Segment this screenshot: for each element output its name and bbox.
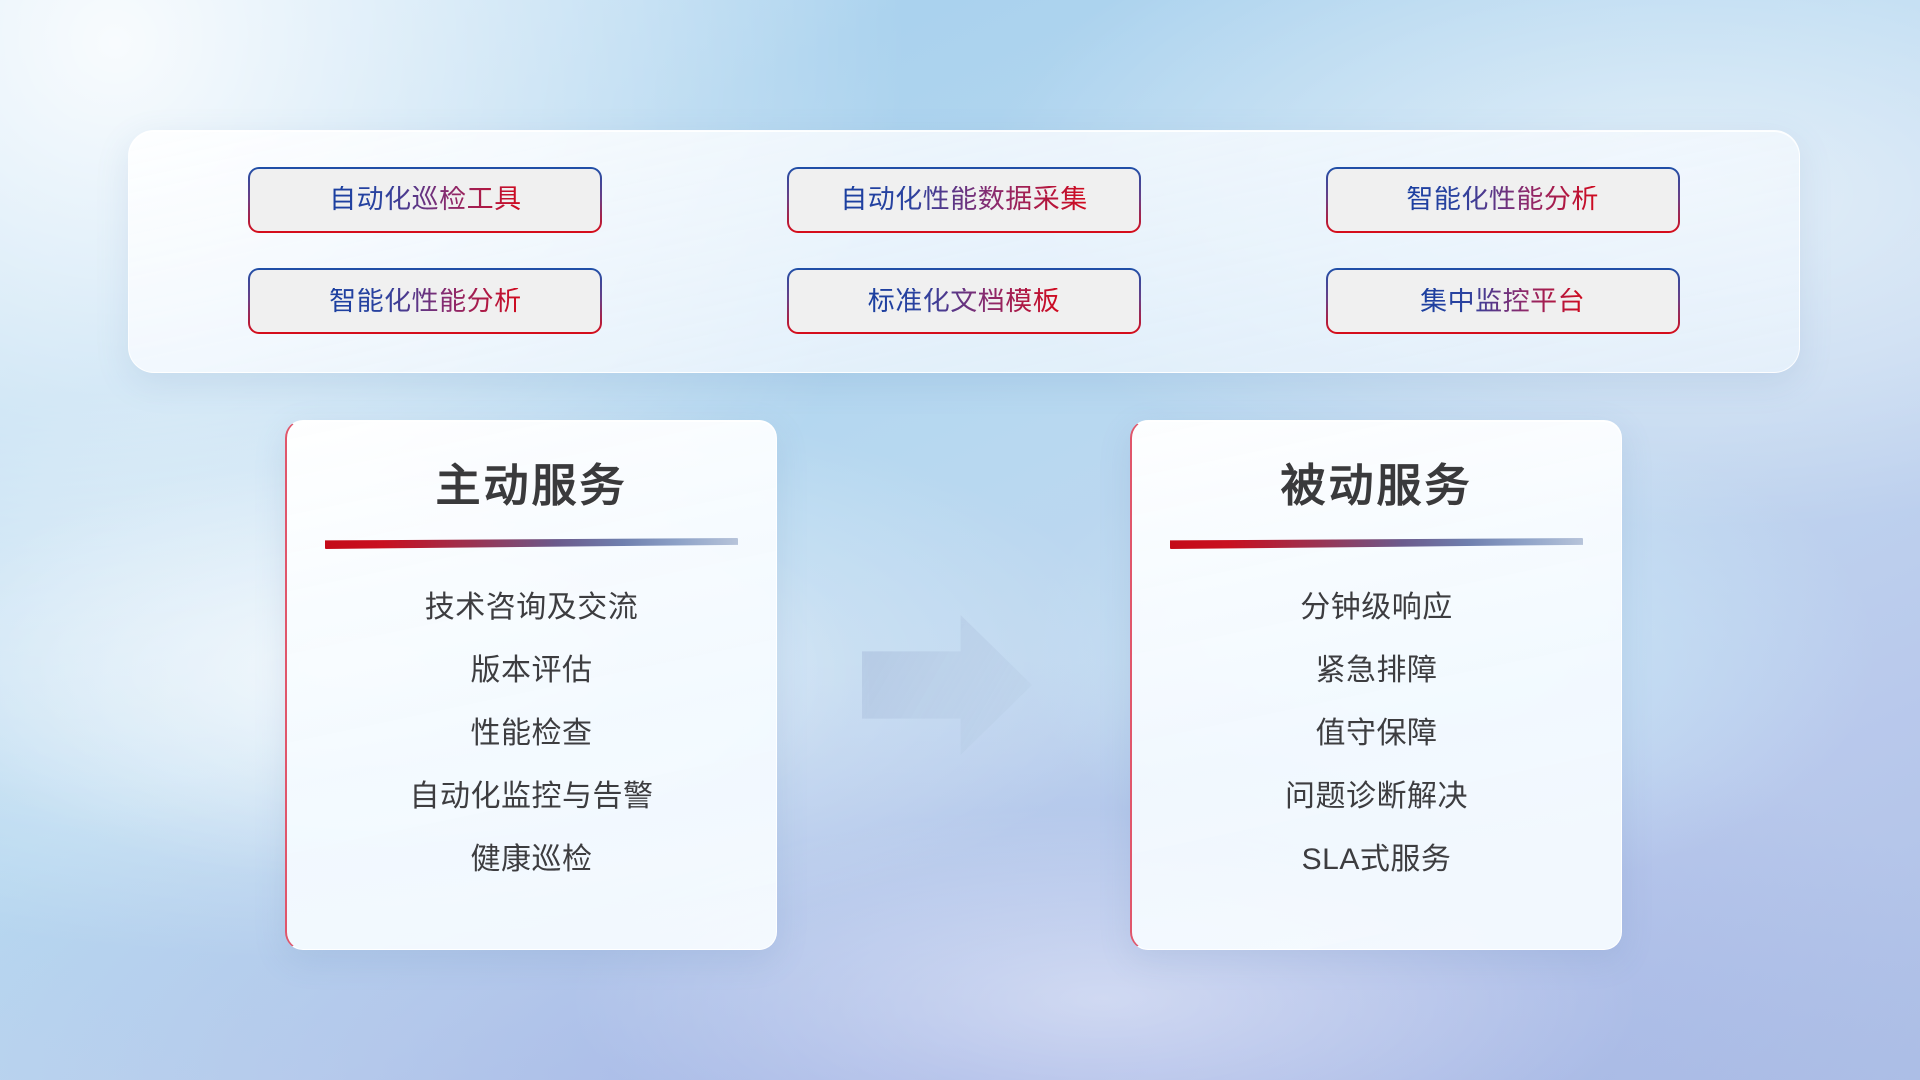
capability-tag-surface: 自动化性能数据采集 (789, 169, 1139, 231)
capability-tag-label: 集中监控平台 (1420, 288, 1585, 315)
proactive-service-card[interactable]: 主动服务 技术咨询及交流 版本评估 性能检查 自动化监控与告警 健康巡检 (285, 420, 777, 950)
arrow-right-icon (862, 615, 1032, 755)
list-item: 值守保障 (1162, 719, 1591, 749)
list-item: 问题诊断解决 (1162, 782, 1591, 812)
capability-tag-surface: 智能化性能分析 (250, 270, 600, 332)
list-item: 性能检查 (317, 719, 746, 749)
list-item: 健康巡检 (317, 845, 746, 875)
capability-tag-intelligent-performance-analysis-bottom[interactable]: 智能化性能分析 (248, 268, 602, 334)
capability-tag-automated-performance-data-collection[interactable]: 自动化性能数据采集 (787, 167, 1141, 233)
slide-canvas: 自动化巡检工具 自动化性能数据采集 智能化性能分析 智能化性能分析 标准化文档模… (0, 0, 1920, 1080)
capability-tag-label: 标准化文档模板 (868, 288, 1061, 315)
capability-tag-label: 智能化性能分析 (1406, 186, 1599, 213)
list-item: SLA式服务 (1162, 845, 1591, 875)
proactive-service-title: 主动服务 (317, 463, 746, 508)
list-item: 紧急排障 (1162, 656, 1591, 686)
capability-tag-intelligent-performance-analysis-top[interactable]: 智能化性能分析 (1326, 167, 1680, 233)
title-divider-gradient (1170, 538, 1583, 550)
capability-tag-standardized-document-template[interactable]: 标准化文档模板 (787, 268, 1141, 334)
list-item: 分钟级响应 (1162, 593, 1591, 623)
capability-tag-label: 自动化性能数据采集 (840, 186, 1088, 213)
capability-tag-centralized-monitoring-platform[interactable]: 集中监控平台 (1326, 268, 1680, 334)
list-item: 技术咨询及交流 (317, 593, 746, 623)
capability-tag-surface: 集中监控平台 (1328, 270, 1678, 332)
title-divider-gradient (325, 538, 738, 550)
list-item: 版本评估 (317, 656, 746, 686)
reactive-service-title: 被动服务 (1162, 463, 1591, 508)
capability-tag-automated-inspection-tool[interactable]: 自动化巡检工具 (248, 167, 602, 233)
capability-tag-label: 自动化巡检工具 (329, 186, 522, 213)
capability-tag-surface: 自动化巡检工具 (250, 169, 600, 231)
reactive-service-card[interactable]: 被动服务 分钟级响应 紧急排障 值守保障 问题诊断解决 SLA式服务 (1130, 420, 1622, 950)
capability-tag-surface: 标准化文档模板 (789, 270, 1139, 332)
capability-tag-label: 智能化性能分析 (329, 288, 522, 315)
proactive-service-item-list: 技术咨询及交流 版本评估 性能检查 自动化监控与告警 健康巡检 (317, 560, 746, 923)
list-item: 自动化监控与告警 (317, 782, 746, 812)
capabilities-panel: 自动化巡检工具 自动化性能数据采集 智能化性能分析 智能化性能分析 标准化文档模… (128, 130, 1800, 373)
capability-tag-surface: 智能化性能分析 (1328, 169, 1678, 231)
reactive-service-item-list: 分钟级响应 紧急排障 值守保障 问题诊断解决 SLA式服务 (1162, 560, 1591, 923)
